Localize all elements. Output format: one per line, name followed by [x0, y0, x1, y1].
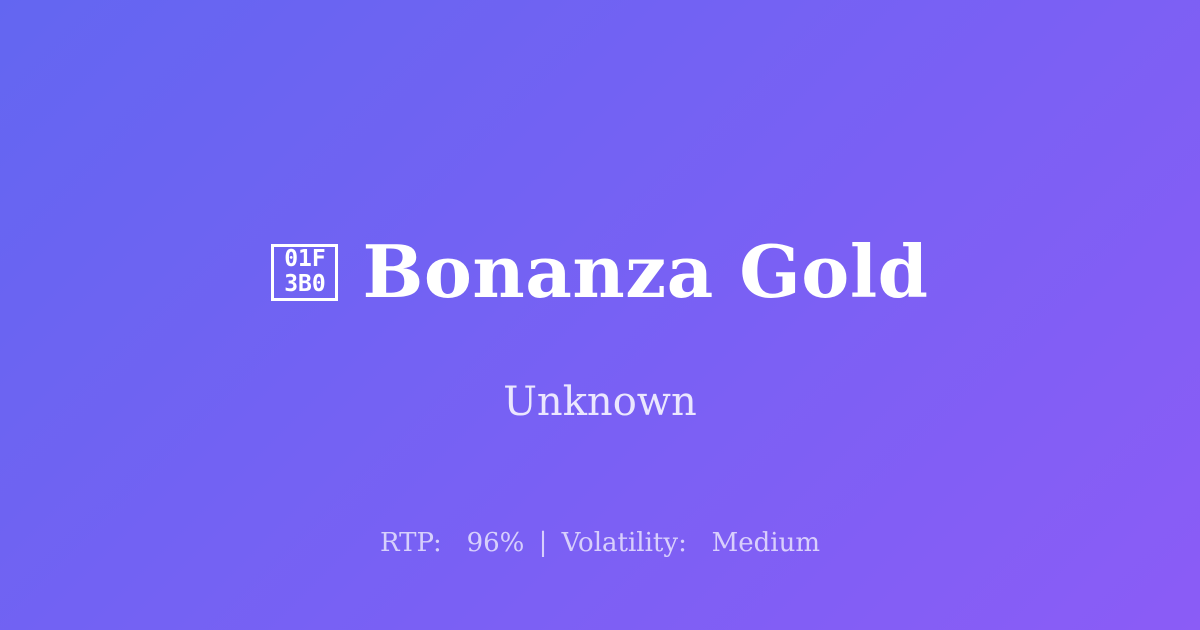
meta-separator: | [533, 528, 554, 558]
volatility-label: Volatility: [562, 528, 687, 558]
rtp-label: RTP: [380, 528, 442, 558]
rtp-value: 96% [467, 528, 525, 558]
hero-block: 01F 3B0 Bonanza Gold Unknown [0, 232, 1200, 426]
slot-machine-icon-codepoint-top: 01F [284, 247, 326, 272]
slot-machine-icon-codepoint-bottom: 3B0 [284, 272, 326, 297]
game-preview-card: 01F 3B0 Bonanza Gold Unknown RTP: 96% | … [0, 0, 1200, 630]
game-subtitle: Unknown [503, 312, 697, 426]
title-row: 01F 3B0 Bonanza Gold [271, 232, 928, 312]
game-meta-line: RTP: 96% | Volatility: Medium [0, 526, 1200, 560]
volatility-value: Medium [712, 528, 820, 558]
game-title: Bonanza Gold [362, 232, 928, 312]
slot-machine-icon: 01F 3B0 [271, 244, 338, 301]
